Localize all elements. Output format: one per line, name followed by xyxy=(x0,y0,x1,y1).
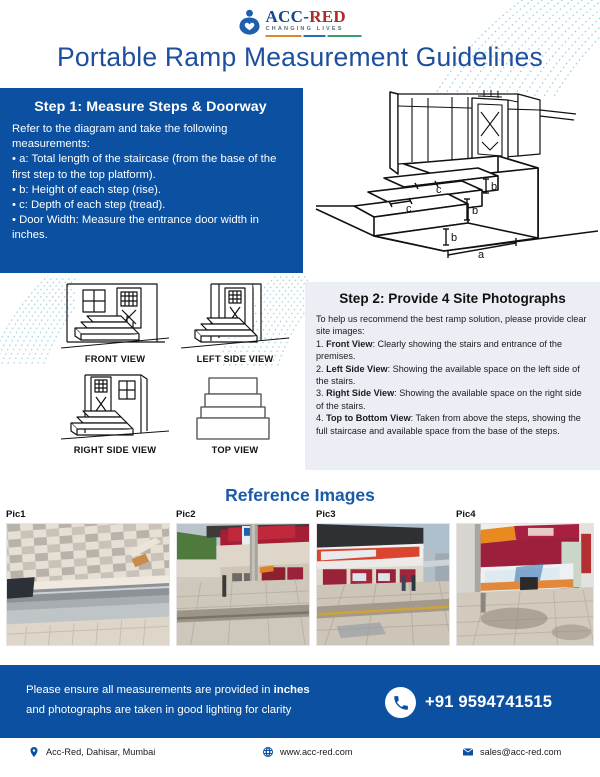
poster-page: ACC-RED CHANGING LIVES Portable Ramp Mea… xyxy=(0,0,600,777)
view-label-left-side: LEFT SIDE VIEW xyxy=(197,354,274,364)
contact-address[interactable]: Acc-Red, Dahisar, Mumbai xyxy=(28,746,155,758)
diagram-label-b-mid: b xyxy=(472,205,478,217)
view-item-left-side: LEFT SIDE VIEW xyxy=(175,282,295,373)
poster-header: ACC-RED CHANGING LIVES Portable Ramp Mea… xyxy=(0,0,600,88)
view-label-right-side: RIGHT SIDE VIEW xyxy=(74,445,157,455)
diagram-label-c-lower: c xyxy=(406,203,412,215)
front-view-icon xyxy=(61,282,169,352)
step2-item-2: 2. Left Side View: Showing the available… xyxy=(316,363,589,388)
step2-panel: Step 2: Provide 4 Site Photographs To he… xyxy=(305,282,600,470)
diagram-label-b-top: b xyxy=(491,181,497,193)
view-item-top: TOP VIEW xyxy=(175,373,295,464)
footer-note-inches: inches xyxy=(274,684,310,696)
view-label-top: TOP VIEW xyxy=(212,445,259,455)
reference-image-3-photo[interactable] xyxy=(316,523,450,646)
step2-item-1: 1. Front View: Clearly showing the stair… xyxy=(316,338,589,363)
person-heart-icon xyxy=(239,9,261,35)
step1-heading: Step 1: Measure Steps & Doorway xyxy=(12,99,289,115)
step2-heading: Step 2: Provide 4 Site Photographs xyxy=(316,291,589,306)
step2-item-1-num: 1. xyxy=(316,339,326,349)
diagram-label-a: a xyxy=(478,249,485,261)
reference-image-2[interactable]: Pic2 xyxy=(176,509,310,646)
phone-number[interactable]: +91 9594741515 xyxy=(425,693,552,712)
top-view-icon xyxy=(181,373,289,443)
reference-image-1-photo[interactable] xyxy=(6,523,170,646)
right-side-view-icon xyxy=(61,373,169,443)
reference-image-4-photo[interactable] xyxy=(456,523,594,646)
step1-panel: Step 1: Measure Steps & Doorway Refer to… xyxy=(0,88,303,273)
view-item-right-side: RIGHT SIDE VIEW xyxy=(55,373,175,464)
location-pin-icon xyxy=(28,746,40,758)
reference-images-title: Reference Images xyxy=(0,485,600,506)
logo-bar-green xyxy=(328,35,362,37)
view-label-front: FRONT VIEW xyxy=(85,354,145,364)
view-item-front: FRONT VIEW xyxy=(55,282,175,373)
reference-image-4-caption: Pic4 xyxy=(456,509,594,520)
contact-website-text: www.acc-red.com xyxy=(280,747,353,757)
contact-address-text: Acc-Red, Dahisar, Mumbai xyxy=(46,747,155,757)
phone-icon xyxy=(385,687,416,718)
step2-intro: To help us recommend the best ramp solut… xyxy=(316,313,589,338)
diagram-label-c-upper: c xyxy=(436,184,442,196)
step2-item-4: 4. Top to Bottom View: Taken from above … xyxy=(316,412,589,437)
footer-banner: Please ensure all measurements are provi… xyxy=(0,665,600,738)
logo-bar-blue xyxy=(304,35,326,37)
footer-phone[interactable]: +91 9594741515 xyxy=(385,687,552,718)
logo-word-acc: ACC xyxy=(266,7,304,26)
staircase-measurement-diagram: c c b b b a xyxy=(312,86,598,268)
step2-item-3-bold: Right Side View xyxy=(326,388,394,398)
reference-image-4[interactable]: Pic4 xyxy=(456,509,594,646)
reference-image-1-caption: Pic1 xyxy=(6,509,170,520)
reference-image-2-caption: Pic2 xyxy=(176,509,310,520)
step2-item-2-bold: Left Side View xyxy=(326,364,388,374)
brand-logo: ACC-RED CHANGING LIVES xyxy=(239,8,362,37)
footer-note: Please ensure all measurements are provi… xyxy=(26,680,356,720)
step2-item-4-num: 4. xyxy=(316,413,326,423)
logo-bar-orange xyxy=(266,35,302,37)
footer-note-line1-pre: Please ensure all measurements are provi… xyxy=(26,684,274,696)
left-side-view-icon xyxy=(181,282,289,352)
globe-icon xyxy=(262,746,274,758)
page-title: Portable Ramp Measurement Guidelines xyxy=(0,42,600,73)
reference-image-3-caption: Pic3 xyxy=(316,509,450,520)
reference-image-2-photo[interactable] xyxy=(176,523,310,646)
reference-image-1[interactable]: Pic1 xyxy=(6,509,170,646)
envelope-icon xyxy=(462,746,474,758)
step2-item-3-num: 3. xyxy=(316,388,326,398)
logo-tagline: CHANGING LIVES xyxy=(266,27,362,33)
step2-item-3: 3. Right Side View: Showing the availabl… xyxy=(316,387,589,412)
contact-email[interactable]: sales@acc-red.com xyxy=(462,746,561,758)
contact-website[interactable]: www.acc-red.com xyxy=(262,746,353,758)
contact-bar: Acc-Red, Dahisar, Mumbai www.acc-red.com… xyxy=(0,738,600,777)
step1-body: Refer to the diagram and take the follow… xyxy=(12,122,289,244)
reference-image-3[interactable]: Pic3 xyxy=(316,509,450,646)
reference-images-row: Pic1 xyxy=(0,509,600,654)
footer-note-line2: and photographs are taken in good lighti… xyxy=(26,704,291,716)
logo-underbars xyxy=(266,35,362,37)
site-view-icons-panel: FRONT VIEW xyxy=(55,282,295,464)
logo-wordmark: ACC-RED xyxy=(266,8,362,25)
step2-item-1-bold: Front View xyxy=(326,339,372,349)
step2-item-2-num: 2. xyxy=(316,364,326,374)
contact-email-text: sales@acc-red.com xyxy=(480,747,561,757)
diagram-label-b-bottom: b xyxy=(451,232,457,244)
step2-item-4-bold: Top to Bottom View xyxy=(326,413,411,423)
logo-word-red: RED xyxy=(309,7,346,26)
